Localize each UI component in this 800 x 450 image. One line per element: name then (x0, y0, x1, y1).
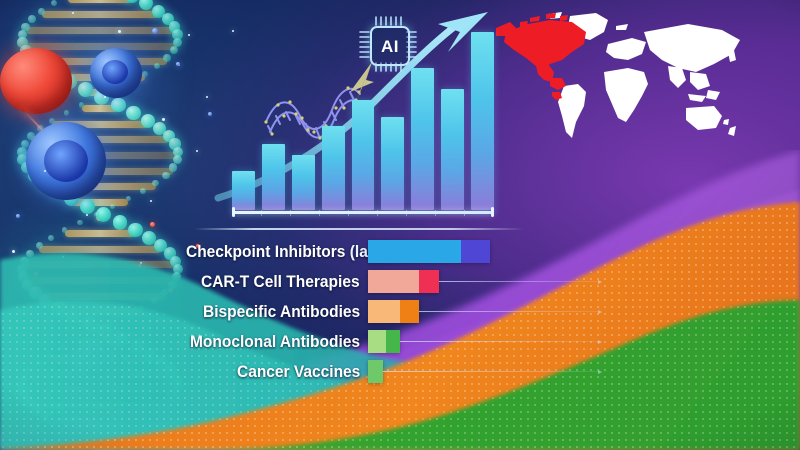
bar-segment-light (368, 360, 383, 383)
bar-connector-line (419, 311, 598, 312)
helix-node (142, 71, 148, 77)
therapy-bar (368, 300, 419, 323)
therapy-bar (368, 240, 490, 263)
sparkle-particle (206, 96, 208, 98)
growth-bar-chart (232, 28, 494, 218)
infographic-canvas: AI Checkpoint Inhibitors (largest)CAR-T … (0, 0, 800, 450)
bar-5 (352, 100, 375, 210)
helix-node (139, 0, 153, 10)
bar-1 (232, 171, 255, 210)
therapy-bar (368, 330, 400, 353)
blue-particle (152, 28, 158, 34)
red-cancer-cell (0, 48, 72, 114)
helix-node (170, 46, 178, 54)
helix-node (38, 8, 45, 15)
bar-series (232, 32, 494, 210)
helix-rung (42, 11, 159, 18)
sparkle-particle (118, 30, 121, 33)
bar-9 (471, 32, 494, 210)
bar-segment-dark (419, 270, 439, 293)
bar-connector-line (383, 371, 598, 372)
therapy-bar (368, 360, 383, 383)
bar-connector-line (400, 341, 598, 342)
therapy-row: Monoclonal Antibodies (190, 330, 371, 354)
helix-node (28, 15, 36, 23)
therapy-bar (368, 270, 439, 293)
therapy-bar-wrap (368, 360, 598, 383)
therapy-row: Cancer Vaccines (237, 360, 368, 384)
bar-6 (381, 117, 404, 210)
therapy-bar-wrap (368, 300, 598, 323)
blue-immune-cell-upper (90, 48, 142, 98)
helix-rung (68, 0, 132, 3)
helix-node (163, 54, 170, 61)
bar-4 (322, 126, 345, 210)
therapy-bar-wrap (368, 330, 598, 353)
bar-2 (262, 144, 285, 210)
therapy-label: Cancer Vaccines (237, 364, 360, 381)
bar-3 (292, 155, 315, 210)
helix-node (51, 0, 57, 6)
bar-segment-light (368, 300, 400, 323)
bar-segment-dark (461, 240, 490, 263)
bar-segment-light (368, 330, 386, 353)
sparkle-particle (104, 96, 106, 98)
helix-node (126, 106, 141, 121)
bar-8 (441, 89, 464, 210)
sparkle-particle (188, 34, 190, 36)
therapy-row: Bispecific Antibodies (203, 300, 370, 324)
sparkle-particle (162, 118, 165, 121)
world-map-icon (492, 10, 792, 180)
therapy-category-chart: Checkpoint Inhibitors (largest)CAR-T Cel… (186, 228, 606, 388)
helix-node (111, 98, 126, 113)
blue-particle (176, 62, 180, 66)
sparkle-particle (72, 12, 74, 14)
helix-node (64, 110, 69, 115)
therapy-bar-wrap (368, 240, 490, 263)
therapy-bar-wrap (368, 270, 598, 293)
x-axis-line (232, 211, 494, 214)
bar-segment-dark (386, 330, 400, 353)
bar-connector-line (439, 281, 598, 282)
helix-node (79, 102, 84, 107)
therapy-label: Bispecific Antibodies (203, 304, 360, 321)
bar-segment-light (368, 240, 461, 263)
bar-7 (411, 68, 434, 210)
helix-node (154, 63, 161, 70)
helix-node (78, 82, 93, 97)
therapy-label: Monoclonal Antibodies (190, 334, 360, 351)
section-divider (194, 228, 524, 230)
therapy-row: CAR-T Cell Therapies (201, 270, 370, 294)
bar-segment-dark (400, 300, 419, 323)
blue-particle (208, 112, 212, 116)
therapy-label: CAR-T Cell Therapies (201, 274, 360, 291)
bar-segment-light (368, 270, 419, 293)
